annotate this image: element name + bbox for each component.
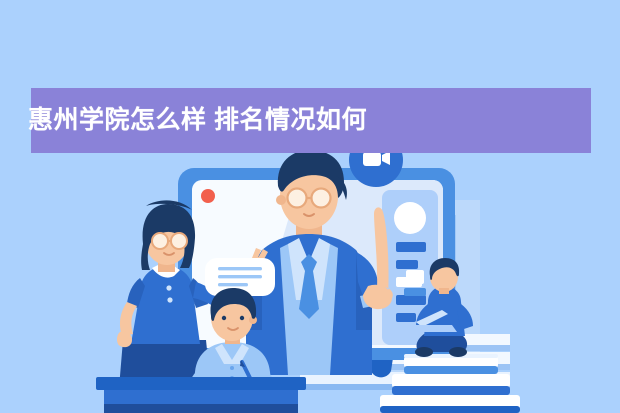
illustration-scene xyxy=(0,0,620,413)
page-title: 惠州学院怎么样 排名情况如何 xyxy=(28,100,367,140)
wall-decor xyxy=(404,270,426,296)
screenshot-root: 惠州学院怎么样 排名情况如何 xyxy=(0,0,620,413)
desk xyxy=(96,377,306,413)
red-dot xyxy=(201,189,215,203)
sidebar-avatar xyxy=(394,202,426,234)
